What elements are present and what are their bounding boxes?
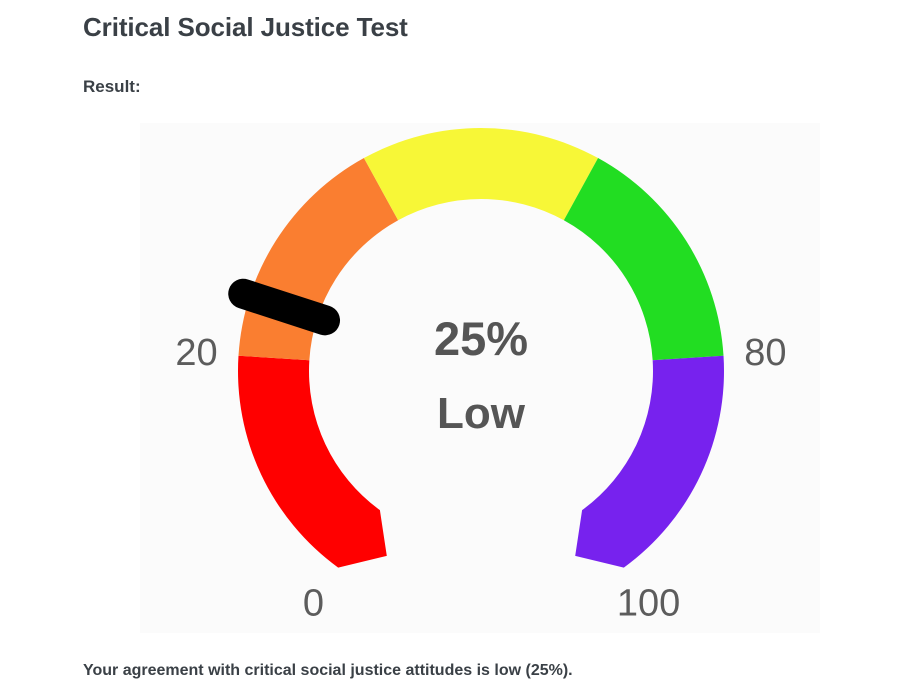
gauge-tick-label-0: 0 (303, 583, 324, 625)
gauge-band-text: Low (437, 389, 526, 438)
gauge-tick-label-80: 80 (744, 332, 786, 374)
result-label: Result: (83, 77, 141, 97)
gauge-band-4 (575, 356, 724, 568)
gauge-band-2 (364, 128, 598, 220)
gauge-tick-label-40: 40 (323, 123, 365, 126)
page-title: Critical Social Justice Test (83, 12, 408, 43)
gauge-tick-label-100: 100 (617, 583, 680, 625)
gauge-value-text: 25% (434, 312, 528, 365)
gauge-tick-label-60: 60 (597, 123, 639, 126)
gauge-band-3 (564, 158, 724, 360)
gauge-tick-label-20: 20 (175, 332, 217, 374)
result-caption: Your agreement with critical social just… (83, 662, 573, 680)
gauge-panel: 0 20 40 60 80 100 25% Low (140, 123, 820, 633)
gauge-chart: 0 20 40 60 80 100 25% Low (140, 123, 820, 633)
gauge-band-0 (238, 356, 387, 568)
page-root: Critical Social Justice Test Result: 0 2… (0, 0, 907, 699)
